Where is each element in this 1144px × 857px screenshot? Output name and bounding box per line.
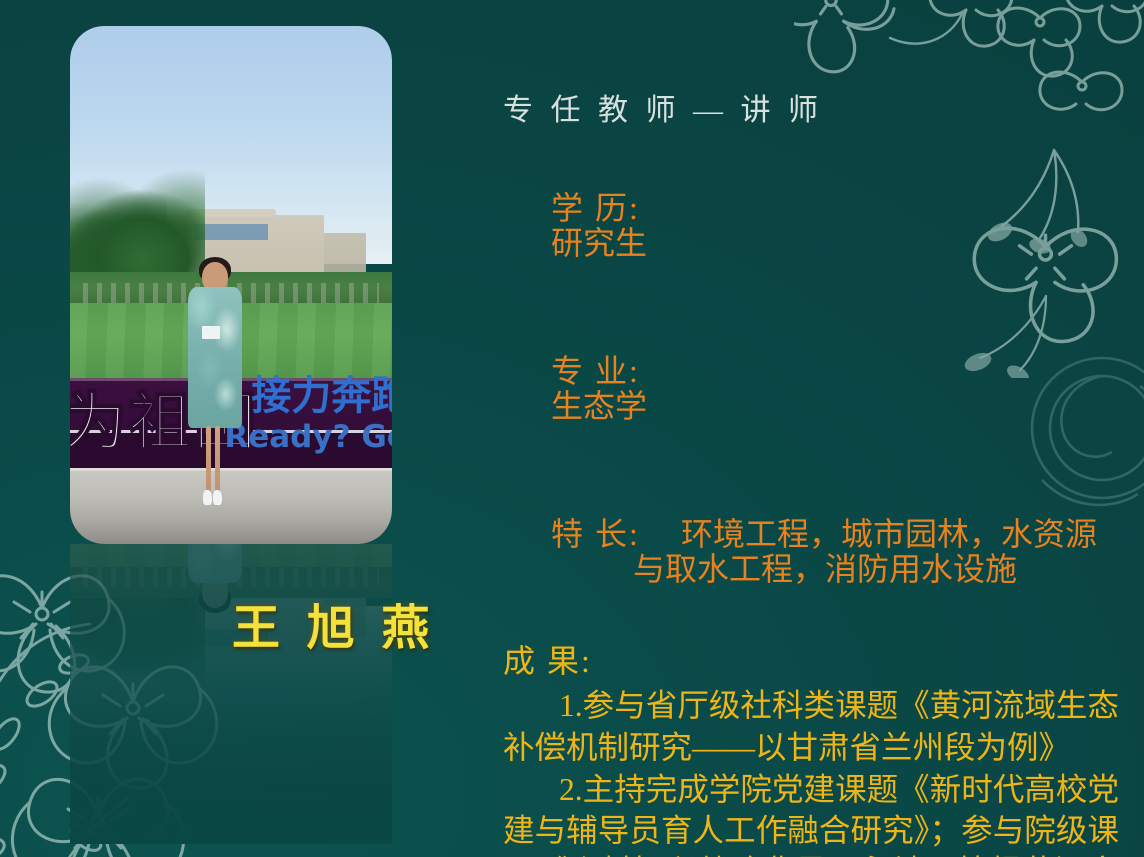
person-leg-left	[206, 426, 211, 493]
photo-person	[186, 262, 244, 511]
field-major-label: 专 业:	[551, 353, 640, 389]
person-shoe-left	[203, 490, 212, 505]
result-item-2: 2.主持完成学院党建课题《新时代高校党建与辅导员育人工作融合研究》；参与院级课题…	[503, 769, 1119, 857]
banner-blue-text: 接力奔跑	[251, 376, 392, 416]
role-title: 专 任 教 师 — 讲 师	[503, 96, 1119, 126]
field-specialty-label: 特 长:	[551, 517, 681, 552]
person-leg-right	[215, 426, 220, 493]
field-major-value: 生态学	[551, 388, 647, 424]
profile-slide: 为祖国 接力奔跑 Ready? Go 王 旭 燕 为祖国	[0, 0, 1144, 857]
results-heading: 成 果:	[503, 644, 1119, 679]
portrait-reflection-image: 为祖国 接力奔跑 Ready? Go	[70, 544, 392, 844]
profile-text-column: 专 任 教 师 — 讲 师 学 历: 研究生 专 业: 生态学 特 长:环境工程…	[503, 96, 1119, 857]
result-item-1: 1.参与省厅级社科类课题《黄河流域生态补偿机制研究——以甘肃省兰州段为例》	[503, 685, 1119, 768]
person-dress	[188, 287, 241, 429]
field-education-value: 研究生	[551, 225, 647, 261]
banner-english-text: Ready? Go	[224, 422, 392, 453]
portrait-photo: 为祖国 接力奔跑 Ready? Go	[70, 26, 392, 544]
portrait-name-label: 王 旭 燕	[232, 604, 434, 652]
field-education: 学 历: 研究生	[503, 156, 1119, 297]
person-badge	[202, 326, 219, 338]
field-specialty: 特 长:环境工程，城市园林，水资源与取水工程，消防用水设施	[503, 482, 1119, 623]
portrait-photo-frame: 为祖国 接力奔跑 Ready? Go	[70, 26, 392, 544]
field-education-label: 学 历:	[551, 190, 640, 226]
field-major: 专 业: 生态学	[503, 319, 1119, 460]
person-shoe-right	[213, 490, 222, 505]
portrait-reflection: 为祖国 接力奔跑 Ready? Go	[70, 544, 392, 844]
field-specialty-value: 环境工程，城市园林，水资源与取水工程，消防用水设施	[633, 516, 1097, 587]
